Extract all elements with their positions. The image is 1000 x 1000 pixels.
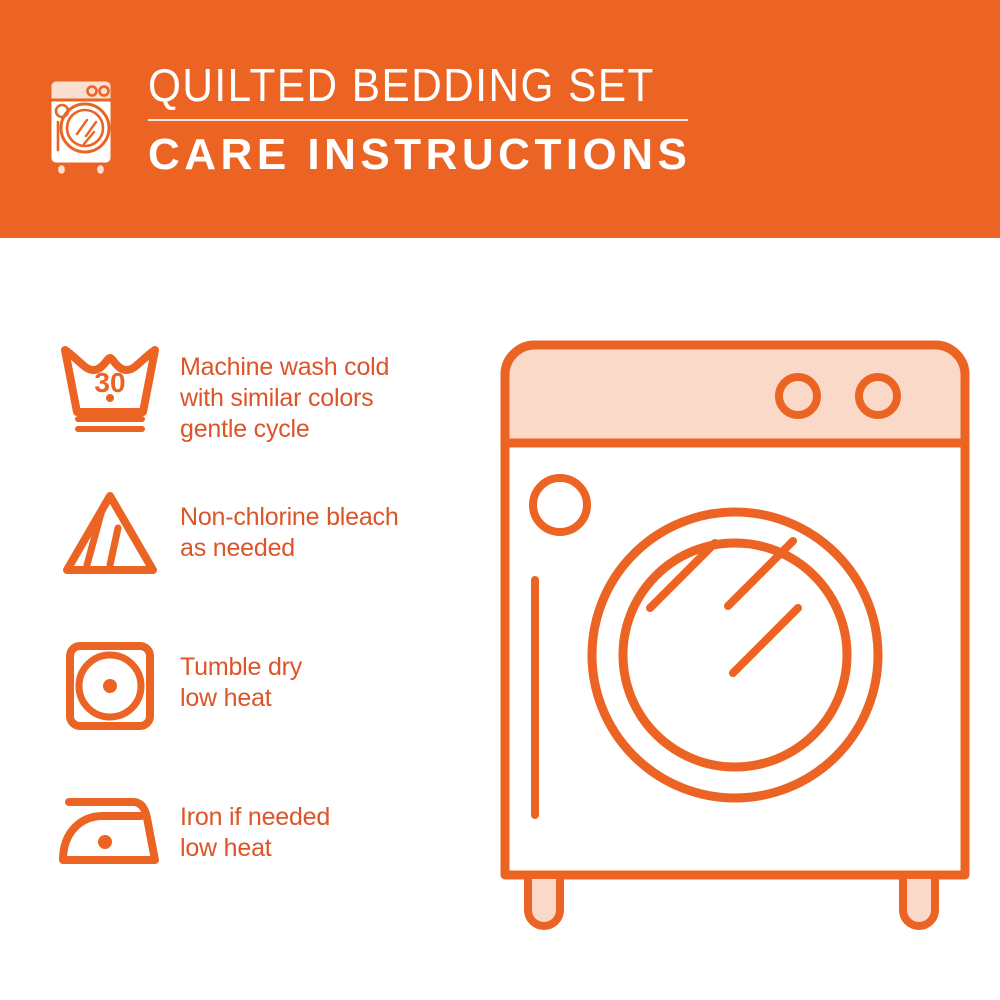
header-title-block: QUILTED BEDDING SET CARE INSTRUCTIONS [148,62,699,178]
instruction-text: Iron if needed low heat [180,780,480,864]
machine-wash-30-gentle-symbol: 30 [40,330,180,436]
instruction-line: low heat [180,683,480,714]
page-subtitle: CARE INSTRUCTIONS [148,132,699,178]
instruction-text: Machine wash cold with similar colors ge… [180,330,480,445]
foot-left [528,875,560,926]
instruction-text: Tumble dry low heat [180,630,480,714]
washing-machine-illustration [490,330,980,950]
instruction-line: Tumble dry [180,652,480,683]
care-instructions-list: 30 Machine wash cold with similar colors… [40,330,480,930]
instruction-line: with similar colors [180,383,480,414]
list-item: Iron if needed low heat [40,780,480,930]
title-divider [148,119,688,121]
iron-low-heat-symbol [40,780,180,876]
washing-machine-icon [44,70,126,178]
instruction-line: Non-chlorine bleach [180,502,480,533]
non-chlorine-bleach-triangle-symbol [40,480,180,581]
header-content: QUILTED BEDDING SET CARE INSTRUCTIONS [44,62,699,178]
instruction-line: as needed [180,533,480,564]
foot-right [903,875,935,926]
instruction-line: low heat [180,833,480,864]
instruction-line: Machine wash cold [180,352,480,383]
tumble-dry-low-heat-symbol [40,630,180,736]
instruction-text: Non-chlorine bleach as needed [180,480,480,564]
list-item: Tumble dry low heat [40,630,480,780]
instruction-line: gentle cycle [180,414,480,445]
page-title: QUILTED BEDDING SET [148,62,655,108]
wash-temperature-value: 30 [94,367,125,398]
list-item: Non-chlorine bleach as needed [40,480,480,630]
instruction-line: Iron if needed [180,802,480,833]
header-banner: QUILTED BEDDING SET CARE INSTRUCTIONS [0,0,1000,238]
list-item: 30 Machine wash cold with similar colors… [40,330,480,480]
